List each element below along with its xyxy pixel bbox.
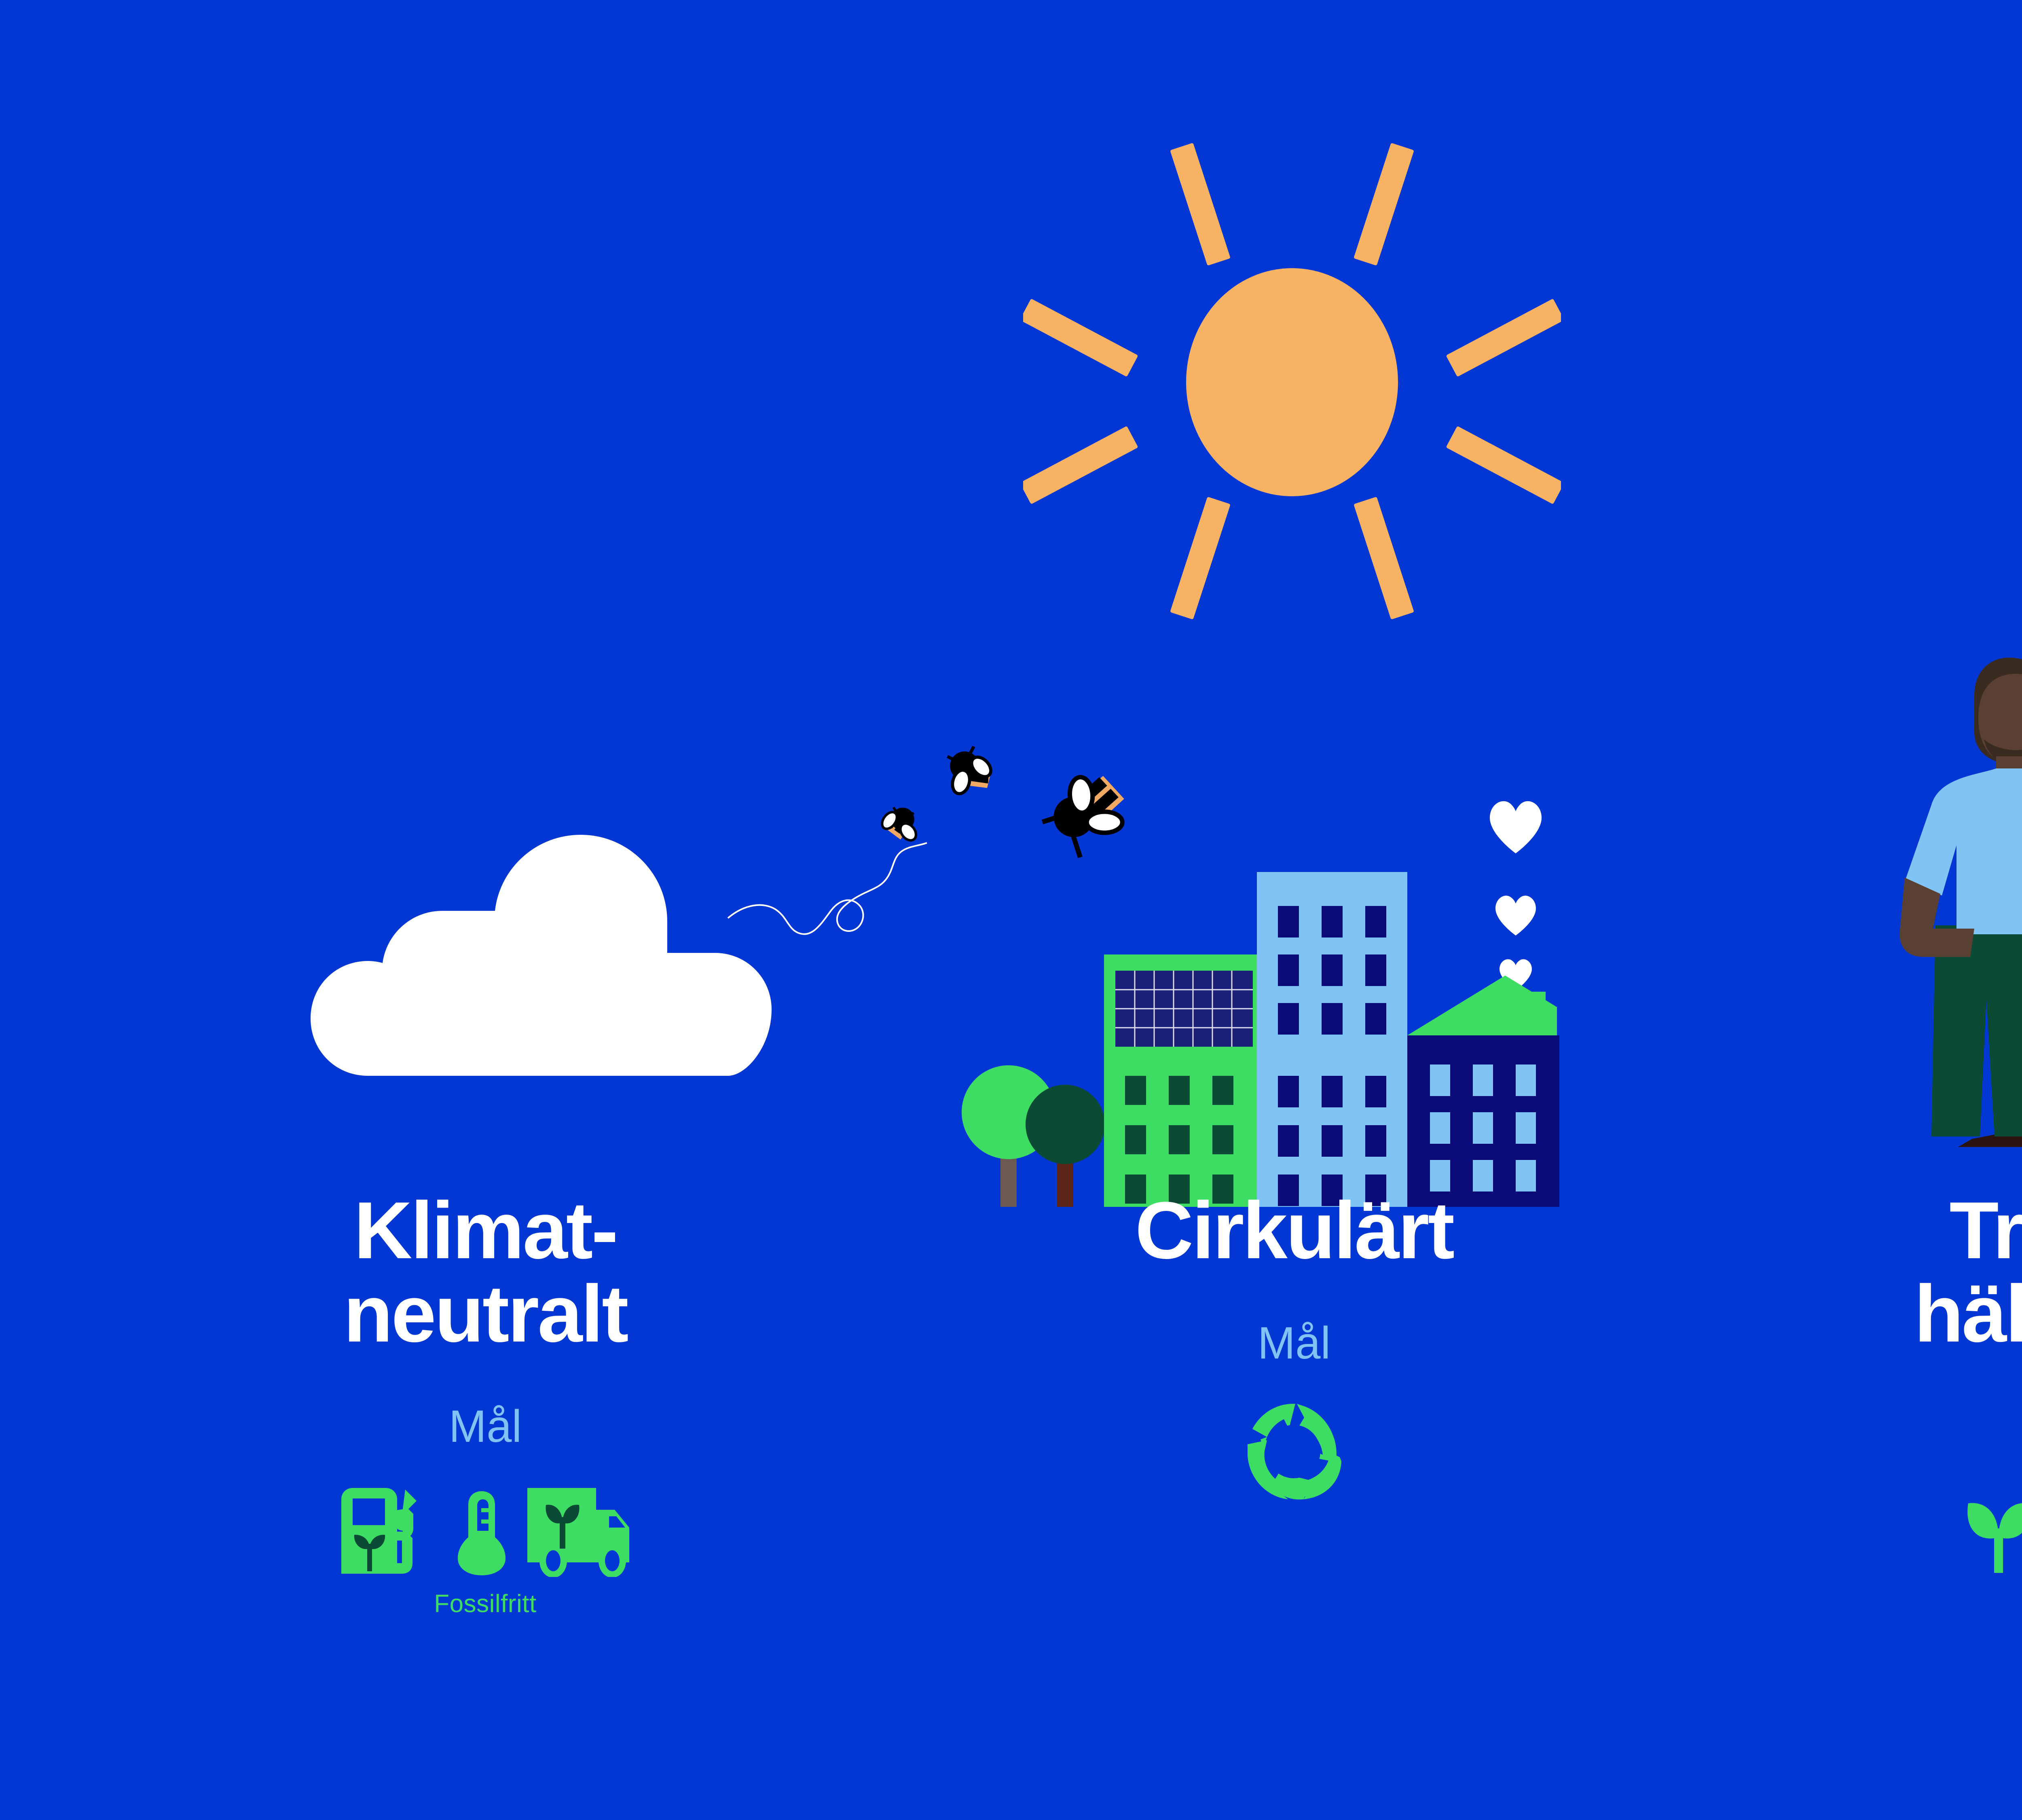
green-building — [1104, 954, 1257, 1207]
goal-label: Mål — [1011, 1317, 1577, 1369]
sun-disc — [1186, 268, 1398, 496]
couple-illustration — [1856, 635, 2022, 1153]
bee-flight-trail — [728, 843, 927, 934]
icon-row — [1011, 1401, 1577, 1504]
cloud-illustration — [299, 833, 772, 1084]
navy-house — [1407, 976, 1559, 1207]
icon-row — [202, 1484, 768, 1579]
city-illustration — [950, 793, 1662, 1238]
column-tryggt-halsosamt: Tryggt & hälsosamt Mål — [1779, 1189, 2022, 1577]
goal-label: Mål — [202, 1400, 768, 1452]
fuel-pump-leaf-icon — [337, 1484, 438, 1579]
icon-row — [1779, 1484, 2022, 1577]
thermometer-icon — [456, 1490, 507, 1579]
column-cirkulart: Cirkulärt Mål — [1011, 1189, 1577, 1504]
sun-illustration — [1023, 121, 1561, 639]
column-heading: Klimat- neutralt — [202, 1189, 768, 1356]
column-heading: Tryggt & hälsosamt — [1779, 1189, 2022, 1356]
icon-caption: Fossilfritt — [202, 1589, 768, 1618]
recycle-icon — [1244, 1401, 1345, 1504]
truck-leaf-icon — [525, 1486, 633, 1579]
tree — [1026, 1085, 1105, 1207]
hearts — [1490, 801, 1542, 990]
column-heading: Cirkulärt — [1011, 1189, 1577, 1272]
goal-label: Mål — [1779, 1400, 2022, 1452]
infographic-canvas: Klimat- neutralt Mål — [0, 0, 2022, 1820]
bee — [875, 800, 926, 851]
sprout-icon — [1954, 1484, 2022, 1577]
person-man — [1900, 658, 2022, 1147]
blue-tower — [1257, 872, 1407, 1207]
column-klimatneutralt: Klimat- neutralt Mål — [202, 1189, 768, 1618]
